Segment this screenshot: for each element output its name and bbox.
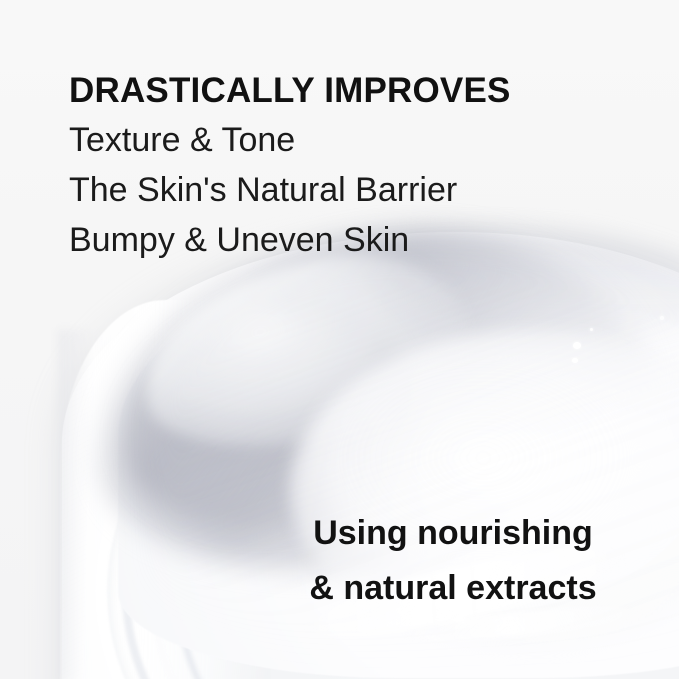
cream-specular-speck — [573, 342, 581, 349]
tagline-line-1: Using nourishing — [220, 506, 679, 561]
jar-outer-wall — [60, 300, 270, 679]
product-marketing-image: DRASTICALLY IMPROVES Texture & Tone The … — [0, 0, 679, 679]
jar-rim-ring-second — [122, 318, 679, 679]
cream-specular-speck — [590, 328, 593, 331]
benefit-line-3: Bumpy & Uneven Skin — [69, 215, 629, 265]
benefit-line-1: Texture & Tone — [69, 115, 629, 165]
jar-left-shadow — [58, 330, 94, 679]
jar-rim-ring-outer — [96, 300, 679, 679]
cream-specular-speck — [572, 358, 578, 363]
benefit-line-2: The Skin's Natural Barrier — [69, 165, 629, 215]
page-title: DRASTICALLY IMPROVES — [69, 66, 629, 115]
tagline-block: Using nourishing & natural extracts — [220, 506, 679, 616]
cream-highlight-lobe — [125, 230, 485, 475]
tagline-line-2: & natural extracts — [220, 561, 679, 616]
headline-block: DRASTICALLY IMPROVES Texture & Tone The … — [69, 66, 629, 265]
cream-specular-speck — [660, 316, 664, 320]
